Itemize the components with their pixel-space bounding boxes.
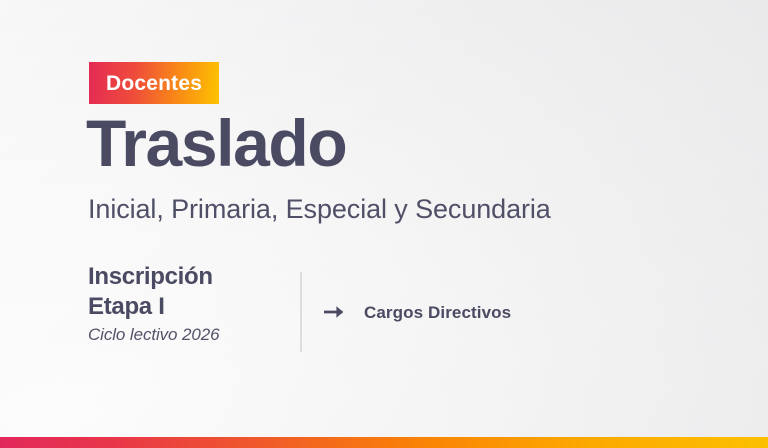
cargos-directivos-link[interactable]: Cargos Directivos <box>324 303 511 321</box>
cargos-directivos-label: Cargos Directivos <box>364 304 511 321</box>
vertical-divider <box>300 272 302 352</box>
details-section: Inscripción Etapa I Ciclo lectivo 2026 C… <box>88 262 688 362</box>
page-title: Traslado <box>86 110 346 176</box>
registration-stage-block: Inscripción Etapa I Ciclo lectivo 2026 <box>88 262 288 346</box>
bottom-gradient-bar <box>0 437 768 448</box>
arrow-right-icon <box>324 303 346 321</box>
category-badge-label: Docentes <box>106 73 202 94</box>
promo-banner: Docentes Traslado Inicial, Primaria, Esp… <box>0 0 768 448</box>
banner-content: Docentes Traslado Inicial, Primaria, Esp… <box>0 0 768 448</box>
category-badge-docentes: Docentes <box>89 62 219 104</box>
registration-label-line1: Inscripción <box>88 262 288 292</box>
registration-label-line2: Etapa I <box>88 292 288 322</box>
school-cycle-label: Ciclo lectivo 2026 <box>88 325 288 345</box>
page-subtitle: Inicial, Primaria, Especial y Secundaria <box>88 194 551 225</box>
